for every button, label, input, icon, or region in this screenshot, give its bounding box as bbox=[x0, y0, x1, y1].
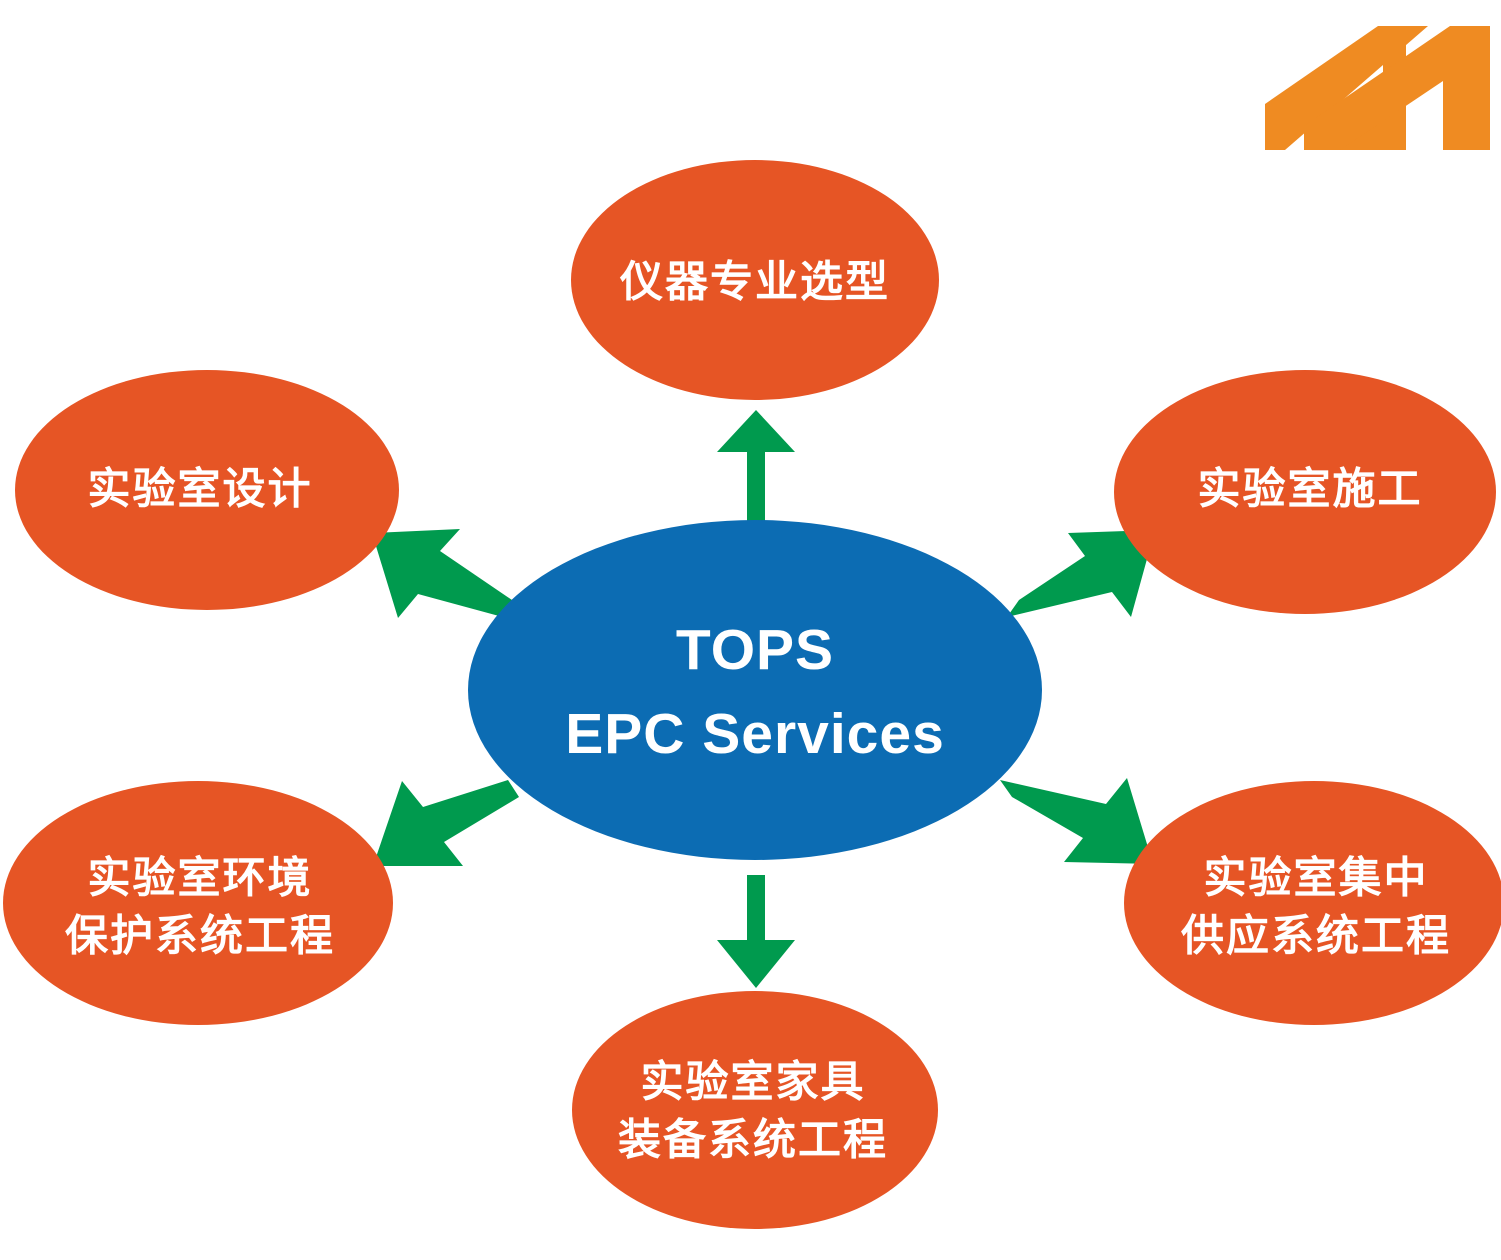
spoke-node-lower-right[interactable]: 实验室集中 供应系统工程 bbox=[1124, 781, 1501, 1025]
spoke-label-bottom-line2: 装备系统工程 bbox=[618, 1116, 888, 1164]
spoke-label-lower-right-line1: 实验室集中 bbox=[1204, 854, 1429, 902]
spoke-node-upper-left[interactable]: 实验室设计 bbox=[15, 370, 399, 610]
spoke-node-upper-right[interactable]: 实验室施工 bbox=[1114, 370, 1496, 614]
arrow-down-right-to-central-supply bbox=[1000, 778, 1153, 864]
company-logo bbox=[1265, 26, 1490, 150]
hub-node[interactable]: TOPS EPC Services bbox=[468, 520, 1042, 860]
spoke-label-upper-left: 实验室设计 bbox=[88, 465, 313, 513]
spoke-ellipse-lower-left[interactable] bbox=[3, 781, 393, 1025]
spoke-label-lower-left-line1: 实验室环境 bbox=[88, 854, 313, 902]
spoke-ellipse-bottom[interactable] bbox=[572, 991, 938, 1229]
spoke-node-lower-left[interactable]: 实验室环境 保护系统工程 bbox=[3, 781, 393, 1025]
spoke-ellipse-lower-right[interactable] bbox=[1124, 781, 1501, 1025]
arrow-down-left-to-env-protection bbox=[373, 780, 519, 866]
spoke-node-top[interactable]: 仪器专业选型 bbox=[571, 160, 939, 400]
spoke-label-top: 仪器专业选型 bbox=[619, 258, 890, 306]
spoke-label-lower-left-line2: 保护系统工程 bbox=[65, 912, 335, 960]
arrow-up-to-instrument-selection bbox=[717, 410, 795, 530]
spoke-label-upper-right: 实验室施工 bbox=[1198, 465, 1423, 513]
hub-label-line1: TOPS bbox=[676, 618, 834, 682]
spoke-label-bottom-line1: 实验室家具 bbox=[641, 1058, 866, 1106]
epc-services-hub-spoke-diagram: 仪器专业选型 实验室设计 实验室施工 实验室环境 保护系统工程 实验室集中 供应… bbox=[0, 0, 1501, 1260]
spoke-node-bottom[interactable]: 实验室家具 装备系统工程 bbox=[572, 991, 938, 1229]
hub-label-line2: EPC Services bbox=[565, 702, 945, 766]
diagram-canvas: 仪器专业选型 实验室设计 实验室施工 实验室环境 保护系统工程 实验室集中 供应… bbox=[0, 0, 1501, 1260]
arrow-up-left-to-lab-design bbox=[372, 529, 512, 618]
hub-ellipse[interactable] bbox=[468, 520, 1042, 860]
spoke-label-lower-right-line2: 供应系统工程 bbox=[1181, 912, 1451, 960]
arrow-down-to-lab-furniture bbox=[717, 875, 795, 988]
